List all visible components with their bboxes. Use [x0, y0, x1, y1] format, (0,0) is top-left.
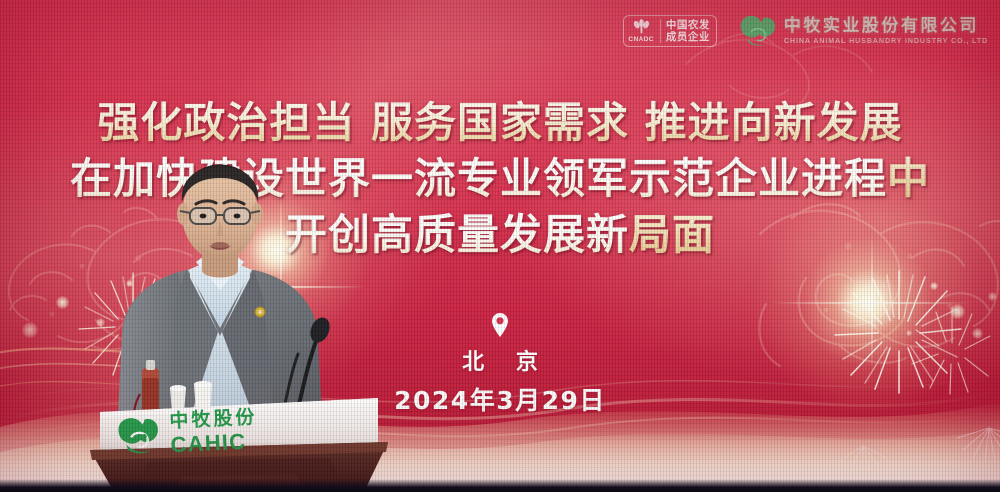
stage-floor-edge: [0, 480, 1000, 492]
conference-backdrop-stage: CNADC 中国农发 成员企业 中牧实业股份有限公司 CHINA AN: [0, 0, 1000, 492]
led-scanline-texture-horizontal: [0, 0, 1000, 492]
